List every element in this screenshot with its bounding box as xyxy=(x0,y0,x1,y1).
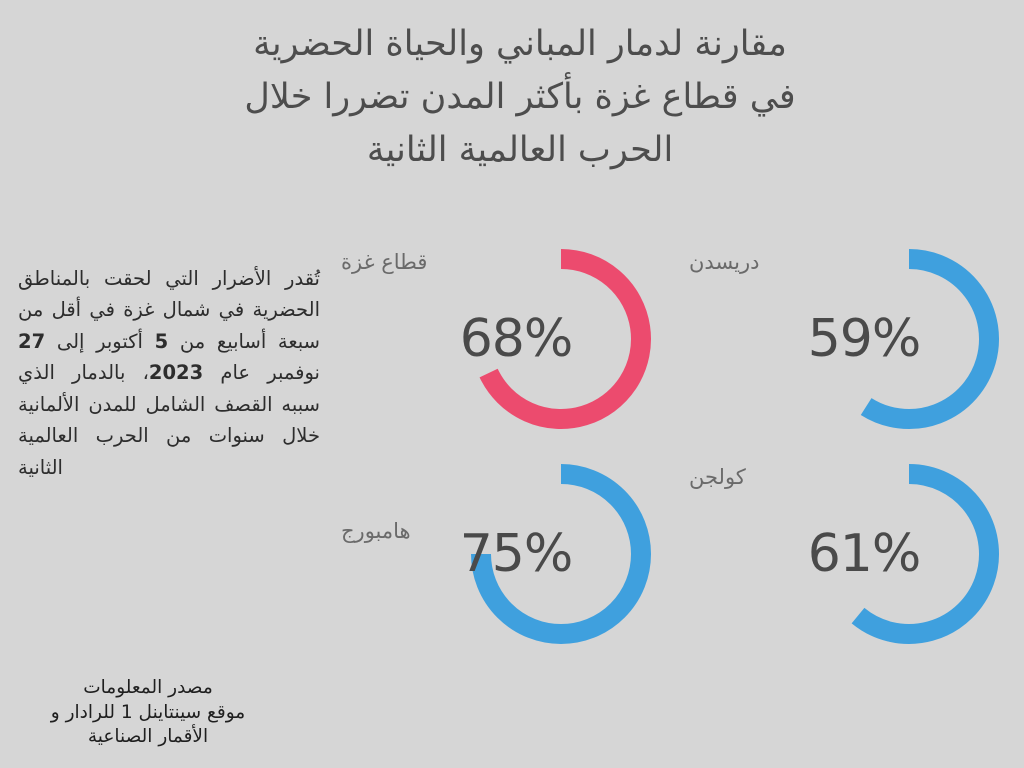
intro-date-start: 5 xyxy=(155,330,169,353)
page-title: مقارنة لدمار المباني والحياة الحضرية في … xyxy=(170,18,870,178)
donut-card-hamburg: هامبورج 75% xyxy=(336,447,666,662)
donut-label-hamburg: هامبورج xyxy=(341,519,461,543)
donut-chart-dresden xyxy=(814,244,1004,434)
donut-arc-hamburg xyxy=(481,474,641,634)
title-line-1: مقارنة لدمار المباني والحياة الحضرية xyxy=(170,18,870,71)
donut-label-dresden: دريسدن xyxy=(689,250,809,274)
source-note: مصدر المعلومات موقع سينتاينل 1 للرادار و… xyxy=(0,676,296,750)
donut-chart-hamburg xyxy=(466,459,656,649)
donut-svg-gaza xyxy=(466,244,656,434)
donut-svg-dresden xyxy=(814,244,1004,434)
source-line-3: الأقمار الصناعية xyxy=(0,725,296,750)
intro-part-3: نوفمبر عام xyxy=(203,361,320,384)
donut-svg-cologne xyxy=(814,459,1004,649)
donut-label-cologne: كولجن xyxy=(689,465,809,489)
intro-part-2: أكتوبر إلى xyxy=(45,330,154,353)
title-line-3: الحرب العالمية الثانية xyxy=(170,124,870,177)
intro-paragraph: تُقدر الأضرار التي لحقت بالمناطق الحضرية… xyxy=(18,263,320,484)
source-line-1: مصدر المعلومات xyxy=(0,676,296,701)
donut-card-gaza: قطاع غزة 68% xyxy=(336,232,666,447)
source-line-2: موقع سينتاينل 1 للرادار و xyxy=(0,701,296,726)
donut-svg-hamburg xyxy=(466,459,656,649)
donut-card-cologne: كولجن 61% xyxy=(684,447,1014,662)
intro-date-end: 27 xyxy=(18,330,45,353)
intro-year: 2023 xyxy=(149,361,203,384)
donut-chart-gaza xyxy=(466,244,656,434)
infographic-canvas: مقارنة لدمار المباني والحياة الحضرية في … xyxy=(0,0,1024,768)
donut-label-gaza: قطاع غزة xyxy=(341,250,461,274)
title-line-2: في قطاع غزة بأكثر المدن تضررا خلال xyxy=(170,71,870,124)
donut-arc-cologne xyxy=(858,474,989,634)
donut-arc-gaza xyxy=(489,259,641,419)
donut-card-dresden: دريسدن 59% xyxy=(684,232,1014,447)
donut-arc-dresden xyxy=(866,259,989,419)
donut-chart-cologne xyxy=(814,459,1004,649)
